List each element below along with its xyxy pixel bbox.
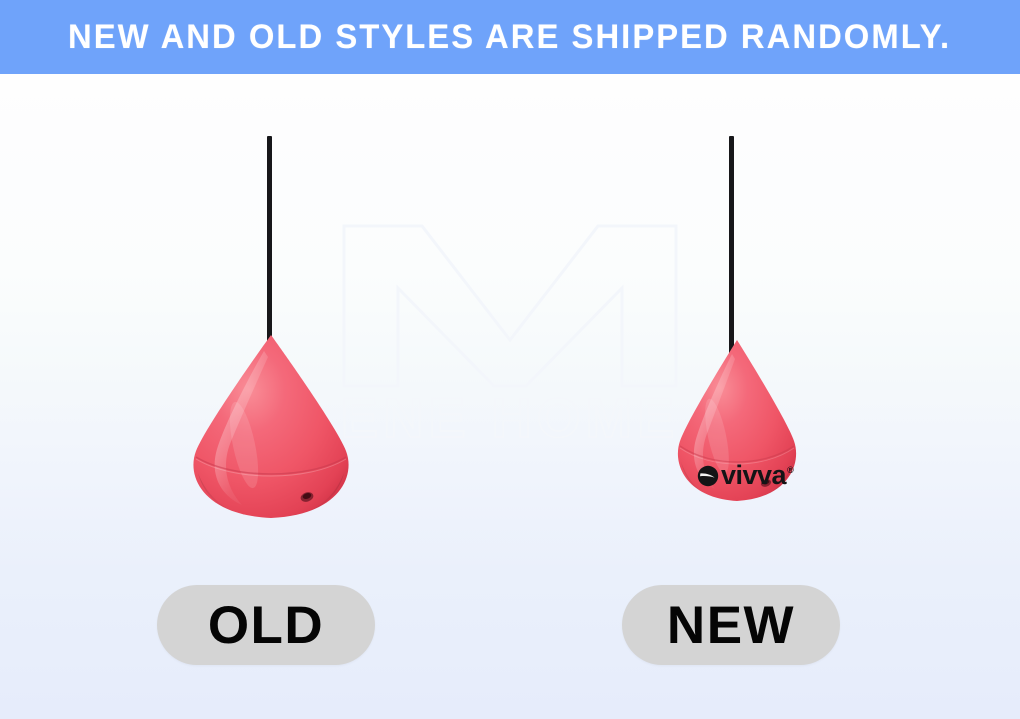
- hanging-cord-old: [267, 136, 272, 354]
- hanging-cord-new: [729, 136, 734, 358]
- label-pill-old-text: OLD: [208, 599, 324, 652]
- vivva-logo-wordmark: vivva: [721, 462, 786, 489]
- label-pill-new-text: NEW: [667, 599, 795, 652]
- product-old: [0, 0, 520, 560]
- label-pill-old: OLD: [157, 585, 375, 665]
- vivva-logo: vivva ®: [697, 462, 794, 489]
- vivva-logo-registered-mark: ®: [787, 466, 794, 475]
- lamp-body-old: [186, 333, 356, 523]
- label-pill-new: NEW: [622, 585, 840, 665]
- vivva-logo-mark-icon: [697, 465, 719, 487]
- product-new: vivva ®: [520, 0, 1020, 560]
- product-comparison-image: NEW AND OLD STYLES ARE SHIPPED RANDOMLY.…: [0, 0, 1020, 719]
